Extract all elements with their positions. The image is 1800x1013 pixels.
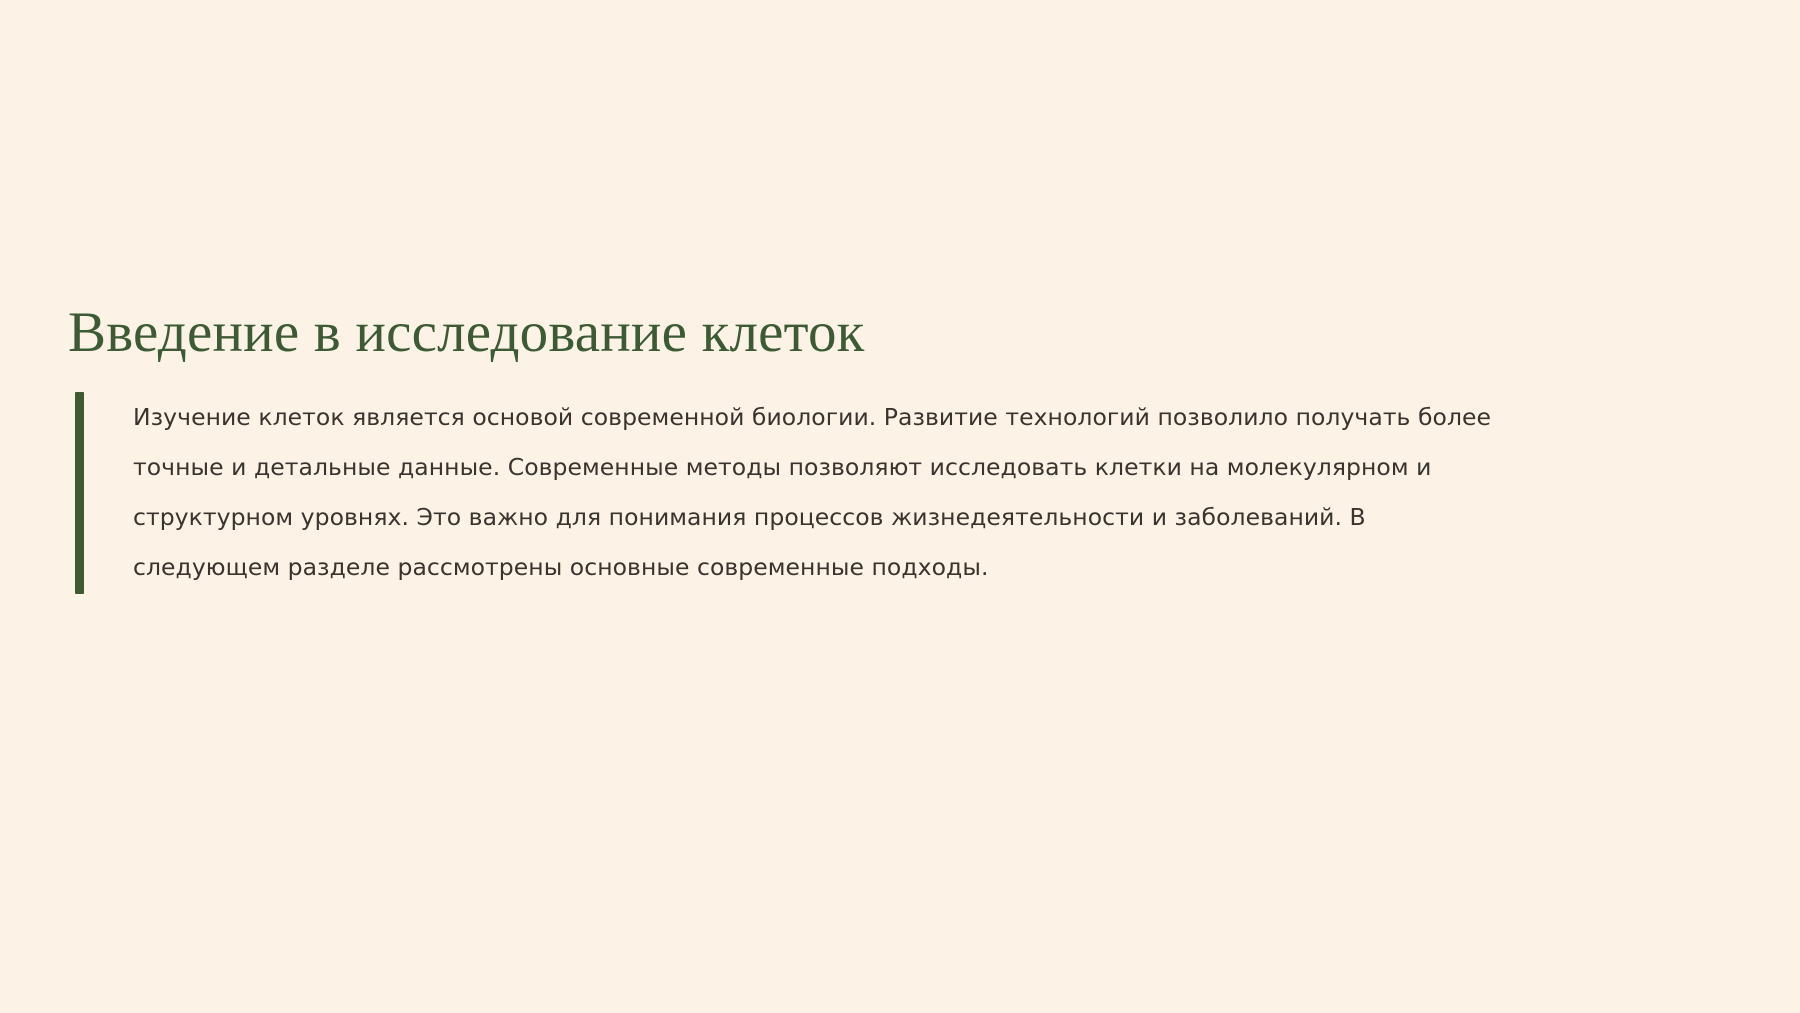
callout-paragraph: Изучение клеток является основой совреме… [133, 392, 1501, 592]
content-container: Введение в исследование клеток Изучение … [68, 300, 1728, 594]
page-title: Введение в исследование клеток [68, 300, 1728, 366]
document-page: Введение в исследование клеток Изучение … [0, 0, 1800, 1013]
callout-block: Изучение клеток является основой совреме… [68, 392, 1728, 594]
callout-accent-bar [75, 392, 84, 594]
